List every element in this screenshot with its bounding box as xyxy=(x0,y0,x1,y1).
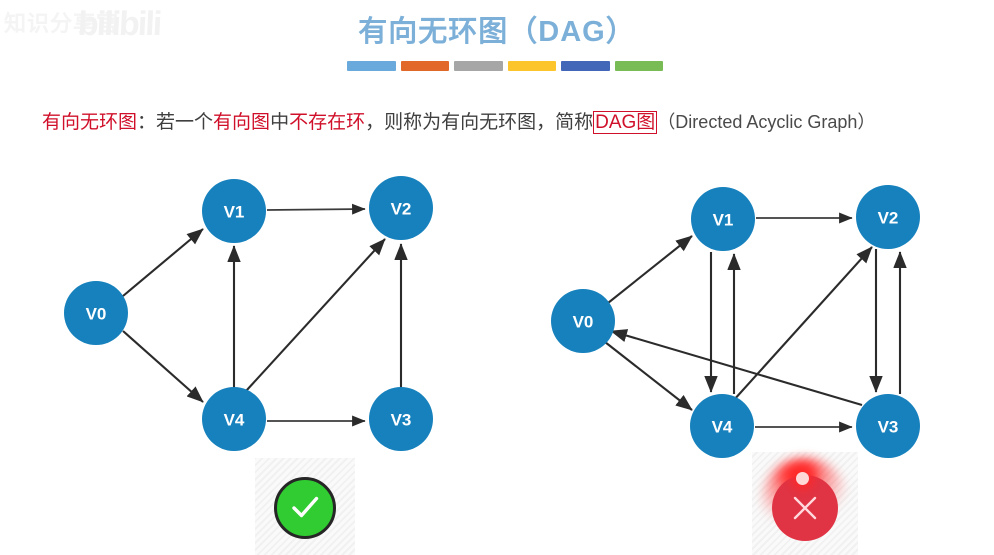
edge-r-V4-V2 xyxy=(733,247,872,401)
graph-acyclic-svg: V0 V1 V2 V4 V3 xyxy=(40,160,470,460)
edge-V0-V1 xyxy=(123,229,203,296)
graph-cyclic-svg: V0 V1 V2 V4 V3 xyxy=(535,165,965,465)
node-r-V3-label: V3 xyxy=(878,418,899,437)
node-V3[interactable]: V3 xyxy=(369,387,433,451)
node-r-V1-label: V1 xyxy=(713,211,734,230)
cross-badge xyxy=(752,452,858,555)
edge-r-V3-V0 xyxy=(611,331,862,405)
node-r-V2[interactable]: V2 xyxy=(856,185,920,249)
node-V1[interactable]: V1 xyxy=(202,179,266,243)
edge-V1-V2 xyxy=(267,209,365,210)
definition-term: 有向无环图 xyxy=(42,112,137,133)
node-V2[interactable]: V2 xyxy=(369,176,433,240)
definition-digraph: 有向图 xyxy=(213,112,270,133)
graph-acyclic: V0 V1 V2 V4 V3 xyxy=(40,160,470,460)
node-V4-label: V4 xyxy=(224,411,245,430)
node-r-V4[interactable]: V4 xyxy=(690,394,754,458)
close-icon xyxy=(785,488,825,528)
node-V1-label: V1 xyxy=(224,203,245,222)
definition-if: 若一个 xyxy=(156,112,213,133)
node-V3-label: V3 xyxy=(391,411,412,430)
node-r-V0[interactable]: V0 xyxy=(551,289,615,353)
definition-zhong: 中 xyxy=(270,112,289,133)
edge-V0-V4 xyxy=(123,331,203,402)
rule-segment-1 xyxy=(347,61,396,71)
graph-acyclic-nodes: V0 V1 V2 V4 V3 xyxy=(64,176,433,451)
node-V4[interactable]: V4 xyxy=(202,387,266,451)
page-title: 有向无环图（DAG） xyxy=(0,12,994,52)
node-r-V4-label: V4 xyxy=(712,418,733,437)
definition-comma: ， xyxy=(365,112,384,133)
check-badge xyxy=(255,458,355,555)
definition-colon: ： xyxy=(137,112,156,133)
graph-cyclic: V0 V1 V2 V4 V3 xyxy=(535,165,965,465)
node-V0[interactable]: V0 xyxy=(64,281,128,345)
edge-r-V0-V4 xyxy=(605,342,692,410)
rule-segment-4 xyxy=(508,61,557,71)
rule-segment-5 xyxy=(561,61,610,71)
edge-r-V0-V1 xyxy=(608,236,692,303)
cross-highlight-dot xyxy=(796,472,809,485)
definition-dag-label: DAG图 xyxy=(593,111,657,134)
graph-cyclic-edges xyxy=(605,218,900,427)
definition-english: （Directed Acyclic Graph） xyxy=(657,112,875,132)
edge-V4-V2 xyxy=(246,239,385,391)
node-r-V1[interactable]: V1 xyxy=(691,187,755,251)
definition-text: 有向无环图：若一个有向图中不存在环，则称为有向无环图，简称DAG图（Direct… xyxy=(42,108,992,137)
definition-then: 则称为有向无环图，简称 xyxy=(384,112,593,133)
rule-segment-2 xyxy=(401,61,450,71)
check-icon xyxy=(289,491,321,523)
slide-canvas: 知识分享官 bilibili 有向无环图（DAG） 有向无环图：若一个有向图中不… xyxy=(0,0,994,555)
graph-acyclic-edges xyxy=(123,209,401,421)
node-r-V3[interactable]: V3 xyxy=(856,394,920,458)
rule-segment-6 xyxy=(615,61,664,71)
node-V0-label: V0 xyxy=(86,305,107,324)
title-color-rule xyxy=(347,61,663,71)
node-r-V2-label: V2 xyxy=(878,209,899,228)
definition-nocycle: 不存在环 xyxy=(289,112,365,133)
node-V2-label: V2 xyxy=(391,200,412,219)
graph-cyclic-nodes: V0 V1 V2 V4 V3 xyxy=(551,185,920,458)
node-r-V0-label: V0 xyxy=(573,313,594,332)
rule-segment-3 xyxy=(454,61,503,71)
